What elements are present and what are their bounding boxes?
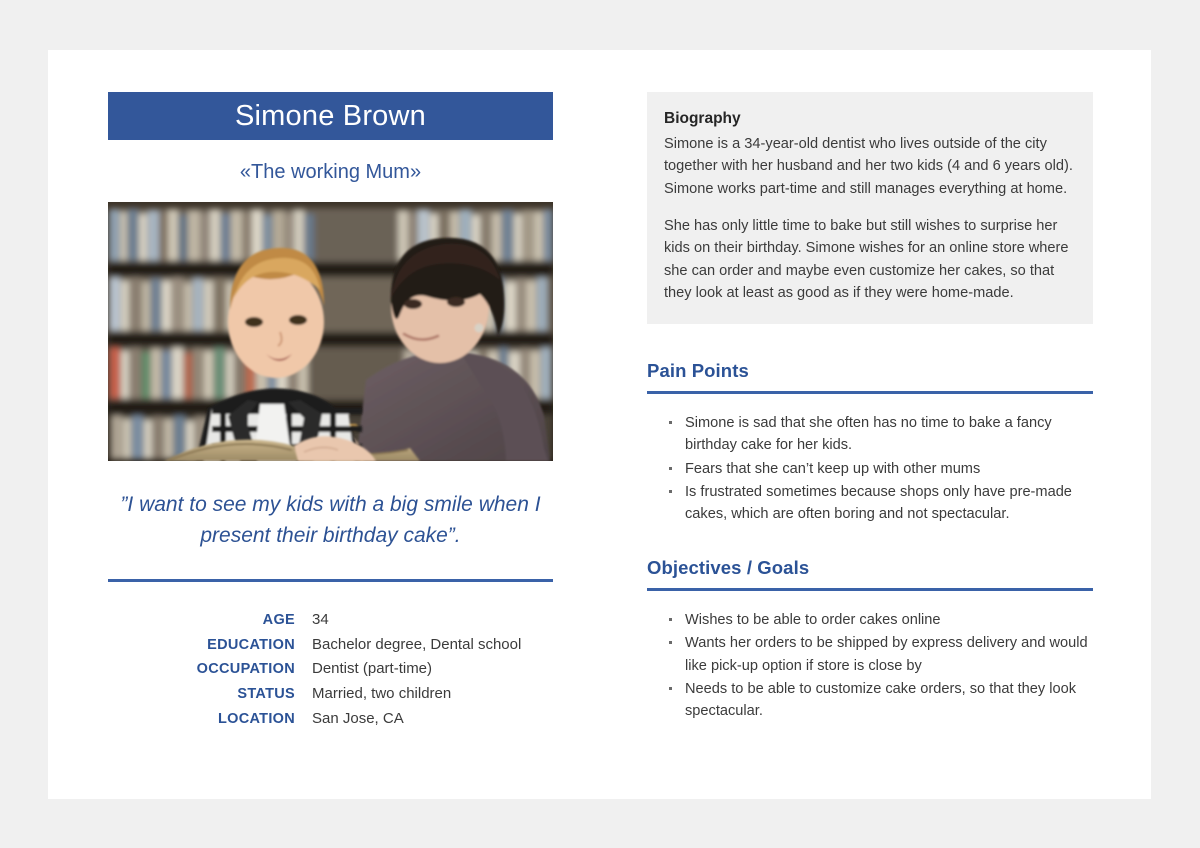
objectives-goals-rule xyxy=(647,588,1093,591)
table-row: AGE 34 xyxy=(108,608,553,633)
persona-card: Simone Brown «The working Mum» xyxy=(48,50,1151,799)
attribute-label-status: STATUS xyxy=(108,682,312,707)
objectives-goals-section: Objectives / Goals Wishes to be able to … xyxy=(647,557,1093,722)
biography-paragraph-2: She has only little time to bake but sti… xyxy=(664,215,1073,304)
attribute-value-status: Married, two children xyxy=(312,682,553,707)
attribute-label-occupation: OCCUPATION xyxy=(108,657,312,682)
attribute-value-age: 34 xyxy=(312,608,553,633)
biography-paragraph-1: Simone is a 34-year-old dentist who live… xyxy=(664,133,1073,200)
list-item: Needs to be able to customize cake order… xyxy=(668,678,1093,722)
table-row: LOCATION San Jose, CA xyxy=(108,707,553,732)
list-item: Is frustrated sometimes because shops on… xyxy=(668,481,1093,525)
persona-name: Simone Brown xyxy=(235,102,426,131)
attribute-label-education: EDUCATION xyxy=(108,633,312,658)
left-divider xyxy=(108,579,553,582)
attribute-value-location: San Jose, CA xyxy=(312,707,553,732)
table-row: EDUCATION Bachelor degree, Dental school xyxy=(108,633,553,658)
pain-points-rule xyxy=(647,391,1093,394)
list-item: Wishes to be able to order cakes online xyxy=(668,609,1093,631)
pain-points-section: Pain Points Simone is sad that she often… xyxy=(647,360,1093,525)
list-item: Simone is sad that she often has no time… xyxy=(668,412,1093,456)
pain-points-heading: Pain Points xyxy=(647,360,1093,382)
library-photo-illustration xyxy=(108,202,553,461)
table-row: OCCUPATION Dentist (part-time) xyxy=(108,657,553,682)
objectives-goals-heading: Objectives / Goals xyxy=(647,557,1093,579)
pain-points-list: Simone is sad that she often has no time… xyxy=(647,412,1093,525)
list-item: Wants her orders to be shipped by expres… xyxy=(668,632,1093,676)
persona-tagline: «The working Mum» xyxy=(108,161,553,184)
table-row: STATUS Married, two children xyxy=(108,682,553,707)
objectives-goals-list: Wishes to be able to order cakes online … xyxy=(647,609,1093,722)
attribute-value-education: Bachelor degree, Dental school xyxy=(312,633,553,658)
persona-name-banner: Simone Brown xyxy=(108,92,553,140)
persona-attributes-table: AGE 34 EDUCATION Bachelor degree, Dental… xyxy=(108,608,553,731)
list-item: Fears that she can’t keep up with other … xyxy=(668,458,1093,480)
persona-left-column: Simone Brown «The working Mum» xyxy=(108,92,553,731)
persona-photo xyxy=(108,202,553,461)
biography-heading: Biography xyxy=(664,110,1073,128)
attribute-label-age: AGE xyxy=(108,608,312,633)
biography-panel: Biography Simone is a 34-year-old dentis… xyxy=(647,92,1093,324)
attribute-label-location: LOCATION xyxy=(108,707,312,732)
attribute-value-occupation: Dentist (part-time) xyxy=(312,657,553,682)
persona-quote: ”I want to see my kids with a big smile … xyxy=(108,489,553,551)
persona-right-column: Biography Simone is a 34-year-old dentis… xyxy=(647,92,1093,723)
